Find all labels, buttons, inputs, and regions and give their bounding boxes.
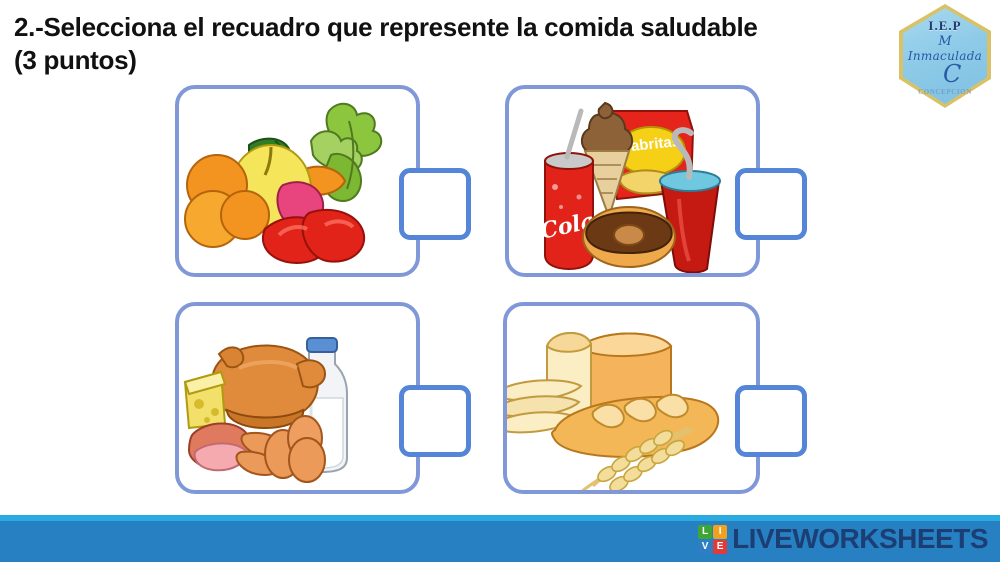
worksheet-page: 2.-Selecciona el recuadro que represente… bbox=[0, 0, 1000, 562]
option-panel-1[interactable] bbox=[175, 85, 420, 277]
proteins-and-dairy-image bbox=[179, 306, 416, 490]
crest-monogram: C bbox=[943, 62, 961, 86]
liveworksheets-wordmark: LIVEWORKSHEETS bbox=[732, 523, 988, 555]
school-logo: I.E.P M Inmaculada C CONCEPCION bbox=[899, 4, 991, 108]
junk-food-image: Sabritas Cola bbox=[509, 89, 756, 273]
answer-checkbox-1[interactable] bbox=[399, 168, 471, 240]
crest-script-line1: M bbox=[938, 34, 951, 49]
live-tile-e: E bbox=[713, 540, 727, 554]
option-panel-2[interactable]: Sabritas Cola bbox=[505, 85, 760, 277]
option-panel-4[interactable] bbox=[503, 302, 760, 494]
option-panel-3[interactable] bbox=[175, 302, 420, 494]
question-title: 2.-Selecciona el recuadro que represente… bbox=[14, 11, 884, 77]
answer-checkbox-4[interactable] bbox=[735, 385, 807, 457]
live-tile-l: L bbox=[698, 525, 712, 539]
live-tiles: L I V E bbox=[698, 525, 727, 554]
live-tile-i: I bbox=[713, 525, 727, 539]
answer-checkbox-2[interactable] bbox=[735, 168, 807, 240]
crest-bottom-text: CONCEPCION bbox=[899, 88, 991, 96]
live-tile-v: V bbox=[698, 540, 712, 554]
crest-top-text: I.E.P bbox=[899, 18, 991, 34]
breads-and-grains-image bbox=[507, 306, 756, 490]
liveworksheets-logo: L I V E LIVEWORKSHEETS bbox=[698, 522, 988, 556]
footer-accent-strip bbox=[0, 515, 1000, 521]
footer-bar: L I V E LIVEWORKSHEETS bbox=[0, 515, 1000, 562]
answer-checkbox-3[interactable] bbox=[399, 385, 471, 457]
fruits-and-vegetables-image bbox=[179, 89, 416, 273]
